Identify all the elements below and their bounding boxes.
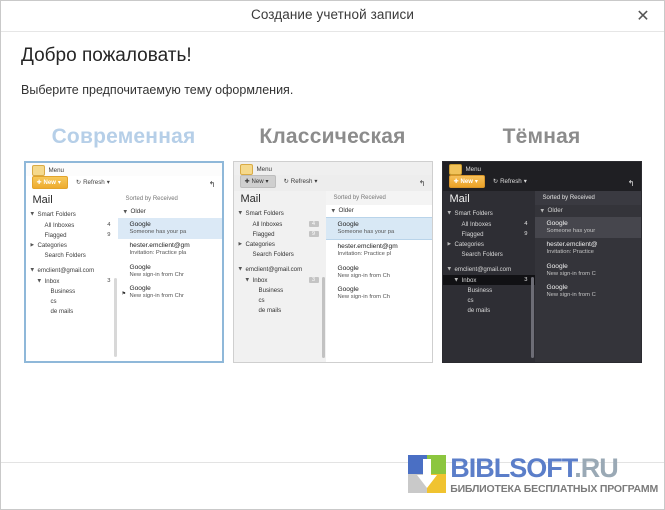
chevron-right-icon[interactable]: ▶ bbox=[239, 242, 246, 247]
preview-toolbar: ✚New▾↻Refresh▾↰ bbox=[26, 176, 222, 192]
envelope-icon bbox=[240, 164, 253, 175]
message-subject: Invitation: Practice pla bbox=[130, 250, 222, 258]
message-subject: New sign-in from Ch bbox=[338, 273, 432, 281]
message-list-item[interactable]: ⚑GoogleNew sign-in from Chr bbox=[118, 282, 222, 303]
chevron-down-icon: ▾ bbox=[314, 178, 317, 185]
message-sender: Google bbox=[130, 285, 222, 293]
folder-item[interactable]: All Inboxes4 bbox=[26, 220, 118, 230]
folder-name: Smart Folders bbox=[246, 210, 319, 217]
message-list-item[interactable]: hester.emclient@Invitation: Practice bbox=[535, 238, 641, 259]
new-button[interactable]: ✚New▾ bbox=[32, 176, 68, 189]
message-list-item[interactable]: GoogleNew sign-in from C bbox=[535, 260, 641, 281]
folder-name: All Inboxes bbox=[462, 221, 525, 228]
refresh-button-label: Refresh bbox=[291, 178, 313, 185]
close-icon[interactable]: ✕ bbox=[632, 5, 654, 27]
plus-icon: ✚ bbox=[37, 179, 42, 186]
watermark-title-tld: .RU bbox=[574, 453, 618, 483]
message-group-label: Older bbox=[548, 207, 563, 214]
folder-name: cs bbox=[259, 297, 319, 304]
folder-pane-scrollbar[interactable] bbox=[531, 277, 534, 358]
folder-name: de mails bbox=[259, 307, 319, 314]
preview-menu-bar: Menu bbox=[443, 162, 641, 175]
back-arrow-icon[interactable]: ↰ bbox=[419, 179, 426, 188]
message-subject: New sign-in from Ch bbox=[338, 294, 432, 302]
message-sender: Google bbox=[130, 264, 222, 272]
folder-unread-count: 3 bbox=[309, 277, 319, 283]
sort-order-label[interactable]: Sorted by Received bbox=[118, 192, 222, 206]
chevron-down-icon: ▾ bbox=[107, 179, 110, 186]
folder-name: Categories bbox=[38, 242, 111, 249]
folder-item[interactable]: ▼Smart Folders bbox=[234, 209, 326, 219]
folder-name: Flagged bbox=[45, 232, 108, 239]
watermark-subtitle: БИБЛИОТЕКА БЕСПЛАТНЫХ ПРОГРАММ bbox=[450, 482, 658, 497]
folder-item[interactable]: Business bbox=[26, 286, 118, 296]
folder-item[interactable]: Flagged9 bbox=[234, 229, 326, 239]
new-button-label: New bbox=[44, 180, 56, 186]
folder-item[interactable]: Search Folders bbox=[443, 250, 535, 260]
refresh-icon: ↻ bbox=[76, 179, 81, 186]
envelope-icon bbox=[449, 164, 462, 175]
chevron-down-icon[interactable]: ▼ bbox=[38, 279, 45, 284]
message-subject: Someone has your pa bbox=[130, 229, 222, 237]
folder-name: Smart Folders bbox=[455, 210, 528, 217]
message-list-item[interactable]: GoogleSomeone has your bbox=[535, 217, 641, 238]
message-list-item[interactable]: GoogleNew sign-in from Chr bbox=[118, 261, 222, 282]
folder-name: All Inboxes bbox=[45, 222, 108, 229]
message-sender: Google bbox=[547, 220, 641, 228]
folder-item[interactable]: ▶Categories bbox=[234, 239, 326, 249]
watermark-title-left: BIBLSOFT bbox=[450, 453, 574, 483]
folder-item[interactable]: cs bbox=[26, 296, 118, 306]
folder-item[interactable]: All Inboxes4 bbox=[443, 219, 535, 229]
theme-chooser: СовременнаяMenu✚New▾↻Refresh▾↰Mail▼Smart… bbox=[1, 125, 664, 363]
mail-pane-title: Mail bbox=[443, 191, 535, 209]
message-sender: Google bbox=[547, 263, 641, 271]
envelope-icon bbox=[32, 165, 45, 176]
message-sender: Google bbox=[338, 265, 432, 273]
folder-item[interactable]: ▼Smart Folders bbox=[443, 209, 535, 219]
message-list-item[interactable]: hester.emclient@gmInvitation: Practice p… bbox=[118, 239, 222, 260]
folder-item[interactable]: ▼Inbox3 bbox=[234, 275, 326, 285]
dialog-titlebar: Создание учетной записи ✕ bbox=[1, 1, 664, 32]
folder-name: de mails bbox=[468, 307, 528, 314]
preview-toolbar: ✚New▾↻Refresh▾↰ bbox=[234, 175, 432, 191]
preview-folder-pane: Mail▼Smart FoldersAll Inboxes4Flagged9▶C… bbox=[234, 191, 326, 362]
message-list-item[interactable]: GoogleNew sign-in from Ch bbox=[326, 283, 432, 304]
folder-item[interactable]: ▼Inbox3 bbox=[443, 275, 535, 285]
folder-unread-count: 9 bbox=[107, 232, 113, 238]
folder-item[interactable]: ▼Inbox3 bbox=[26, 276, 118, 286]
folder-name: All Inboxes bbox=[253, 221, 309, 228]
refresh-button[interactable]: ↻Refresh▾ bbox=[284, 178, 318, 185]
message-sender: Google bbox=[338, 221, 432, 229]
chevron-down-icon[interactable]: ▼ bbox=[31, 212, 38, 217]
theme-preview-modern[interactable]: Menu✚New▾↻Refresh▾↰Mail▼Smart FoldersAll… bbox=[24, 161, 224, 363]
folder-pane-scrollbar[interactable] bbox=[114, 278, 117, 357]
message-subject: New sign-in from Chr bbox=[130, 293, 222, 301]
preview-menu-label: Menu bbox=[257, 166, 272, 173]
folder-name: Categories bbox=[455, 241, 528, 248]
folder-name: de mails bbox=[51, 308, 111, 315]
sort-order-label[interactable]: Sorted by Received bbox=[535, 191, 641, 205]
folder-unread-count: 3 bbox=[524, 277, 530, 283]
message-group-header[interactable]: ▼Older bbox=[535, 205, 641, 217]
chevron-down-icon[interactable]: ▼ bbox=[246, 278, 253, 283]
biblsoft-watermark: BIBLSOFT.RU БИБЛИОТЕКА БЕСПЛАТНЫХ ПРОГРА… bbox=[408, 455, 658, 497]
folder-unread-count: 4 bbox=[107, 222, 113, 228]
theme-option-classic[interactable]: КлассическаяMenu✚New▾↻Refresh▾↰Mail▼Smar… bbox=[228, 125, 437, 363]
folder-unread-count: 9 bbox=[524, 231, 530, 237]
folder-item[interactable]: Search Folders bbox=[26, 251, 118, 261]
message-list-item[interactable]: GoogleNew sign-in from C bbox=[535, 281, 641, 302]
theme-instruction-text: Выберите предпочитаемую тему оформления. bbox=[21, 83, 644, 97]
plus-icon: ✚ bbox=[245, 178, 250, 185]
message-sender: Google bbox=[547, 284, 641, 292]
message-sender: hester.emclient@gm bbox=[338, 243, 432, 251]
preview-menu-bar: Menu bbox=[26, 163, 222, 176]
preview-message-list: Sorted by Received▼OlderGoogleSomeone ha… bbox=[326, 191, 432, 362]
folder-name: emclient@gmail.com bbox=[38, 267, 111, 274]
folder-name: Flagged bbox=[253, 231, 309, 238]
folder-pane-scrollbar[interactable] bbox=[322, 277, 325, 358]
preview-body: Mail▼Smart FoldersAll Inboxes4Flagged9▶C… bbox=[443, 191, 641, 362]
theme-preview-classic[interactable]: Menu✚New▾↻Refresh▾↰Mail▼Smart FoldersAll… bbox=[233, 161, 433, 363]
dialog-footer: BIBLSOFT.RU БИБЛИОТЕКА БЕСПЛАТНЫХ ПРОГРА… bbox=[1, 463, 664, 509]
folder-item[interactable]: All Inboxes4 bbox=[234, 219, 326, 229]
folder-item[interactable]: Flagged9 bbox=[26, 230, 118, 240]
folder-name: Categories bbox=[246, 241, 319, 248]
refresh-button-label: Refresh bbox=[83, 179, 105, 186]
folder-name: cs bbox=[51, 298, 111, 305]
preview-menu-label: Menu bbox=[49, 167, 64, 174]
folder-item[interactable]: de mails bbox=[443, 306, 535, 316]
theme-option-modern[interactable]: СовременнаяMenu✚New▾↻Refresh▾↰Mail▼Smart… bbox=[19, 125, 228, 363]
folder-item[interactable]: de mails bbox=[26, 307, 118, 317]
preview-message-list: Sorted by Received▼OlderGoogleSomeone ha… bbox=[535, 191, 641, 362]
chevron-down-icon[interactable]: ▼ bbox=[31, 268, 38, 273]
account-creation-dialog: Создание учетной записи ✕ Добро пожалова… bbox=[0, 0, 665, 510]
message-list-item[interactable]: GoogleNew sign-in from Ch bbox=[326, 262, 432, 283]
folder-name: Smart Folders bbox=[38, 211, 111, 218]
chevron-down-icon[interactable]: ▼ bbox=[124, 210, 131, 215]
plus-icon: ✚ bbox=[454, 178, 459, 185]
refresh-button[interactable]: ↻Refresh▾ bbox=[76, 179, 110, 186]
message-list-item[interactable]: GoogleSomeone has your pa bbox=[118, 218, 222, 239]
preview-body: Mail▼Smart FoldersAll Inboxes4Flagged9▶C… bbox=[234, 191, 432, 362]
folder-unread-count: 4 bbox=[309, 221, 319, 227]
message-subject: Invitation: Practice pl bbox=[338, 251, 432, 259]
message-group-label: Older bbox=[131, 208, 146, 215]
folder-item[interactable]: ▶Categories bbox=[443, 239, 535, 249]
folder-name: Search Folders bbox=[45, 252, 111, 259]
folder-unread-count: 9 bbox=[309, 231, 319, 237]
folder-unread-count: 4 bbox=[524, 221, 530, 227]
message-list-item[interactable]: hester.emclient@gmInvitation: Practice p… bbox=[326, 240, 432, 261]
folder-item[interactable]: ▼emclient@gmail.com bbox=[443, 265, 535, 275]
folder-item[interactable]: Flagged9 bbox=[443, 229, 535, 239]
folder-name: Business bbox=[259, 287, 319, 294]
chevron-down-icon[interactable]: ▼ bbox=[239, 267, 246, 272]
preview-body: Mail▼Smart FoldersAll Inboxes4Flagged9▶C… bbox=[26, 192, 222, 361]
folder-item[interactable]: cs bbox=[234, 295, 326, 305]
folder-name: emclient@gmail.com bbox=[455, 266, 528, 273]
folder-item[interactable]: cs bbox=[443, 295, 535, 305]
folder-name: Inbox bbox=[45, 278, 108, 285]
new-button[interactable]: ✚New▾ bbox=[449, 175, 485, 188]
folder-name: Inbox bbox=[253, 277, 309, 284]
chevron-down-icon[interactable]: ▼ bbox=[448, 267, 455, 272]
watermark-title: BIBLSOFT.RU bbox=[450, 455, 658, 482]
message-sender: hester.emclient@ bbox=[547, 241, 641, 249]
chevron-down-icon[interactable]: ▼ bbox=[332, 209, 339, 214]
preview-folder-pane: Mail▼Smart FoldersAll Inboxes4Flagged9▶C… bbox=[26, 192, 118, 361]
message-group-header[interactable]: ▼Older bbox=[326, 205, 432, 217]
message-subject: Someone has your bbox=[547, 228, 641, 236]
new-button[interactable]: ✚New▾ bbox=[240, 175, 276, 188]
chevron-down-icon: ▾ bbox=[266, 178, 269, 185]
folder-item[interactable]: ▼Smart Folders bbox=[26, 210, 118, 220]
welcome-heading: Добро пожаловать! bbox=[21, 46, 644, 67]
biblsoft-logo-icon bbox=[408, 455, 446, 493]
theme-title-modern: Современная bbox=[52, 125, 196, 149]
folder-unread-count: 3 bbox=[107, 278, 113, 284]
theme-title-dark: Тёмная bbox=[503, 125, 581, 149]
preview-folder-pane: Mail▼Smart FoldersAll Inboxes4Flagged9▶C… bbox=[443, 191, 535, 362]
back-arrow-icon[interactable]: ↰ bbox=[628, 179, 635, 188]
dialog-title: Создание учетной записи bbox=[1, 7, 664, 22]
new-button-label: New bbox=[252, 179, 264, 185]
chevron-down-icon: ▾ bbox=[475, 178, 478, 185]
message-list-item[interactable]: GoogleSomeone has your pa bbox=[326, 217, 432, 240]
theme-preview-dark[interactable]: Menu✚New▾↻Refresh▾↰Mail▼Smart FoldersAll… bbox=[442, 161, 642, 363]
preview-menu-bar: Menu bbox=[234, 162, 432, 175]
chevron-down-icon[interactable]: ▼ bbox=[239, 211, 246, 216]
message-subject: New sign-in from C bbox=[547, 271, 641, 279]
folder-item[interactable]: ▶Categories bbox=[26, 240, 118, 250]
chevron-down-icon[interactable]: ▼ bbox=[448, 211, 455, 216]
chevron-down-icon: ▾ bbox=[524, 178, 527, 185]
folder-name: cs bbox=[468, 297, 528, 304]
preview-menu-label: Menu bbox=[466, 166, 481, 173]
folder-name: Search Folders bbox=[253, 251, 319, 258]
message-sender: Google bbox=[338, 286, 432, 294]
chevron-right-icon[interactable]: ▶ bbox=[31, 243, 38, 248]
sort-order-label[interactable]: Sorted by Received bbox=[326, 191, 432, 205]
new-button-label: New bbox=[461, 179, 473, 185]
folder-item[interactable]: ▼emclient@gmail.com bbox=[234, 265, 326, 275]
intro-section: Добро пожаловать! Выберите предпочитаему… bbox=[1, 32, 664, 97]
folder-item[interactable]: Business bbox=[234, 285, 326, 295]
folder-item[interactable]: de mails bbox=[234, 306, 326, 316]
folder-item[interactable]: ▼emclient@gmail.com bbox=[26, 266, 118, 276]
chevron-down-icon: ▾ bbox=[58, 179, 61, 186]
chevron-down-icon[interactable]: ▼ bbox=[541, 209, 548, 214]
folder-name: emclient@gmail.com bbox=[246, 266, 319, 273]
preview-toolbar: ✚New▾↻Refresh▾↰ bbox=[443, 175, 641, 191]
flag-icon[interactable]: ⚑ bbox=[122, 291, 126, 297]
refresh-icon: ↻ bbox=[284, 178, 289, 185]
folder-name: Business bbox=[51, 288, 111, 295]
mail-pane-title: Mail bbox=[26, 192, 118, 210]
refresh-icon: ↻ bbox=[493, 178, 498, 185]
message-subject: New sign-in from Chr bbox=[130, 272, 222, 280]
refresh-button[interactable]: ↻Refresh▾ bbox=[493, 178, 527, 185]
message-sender: hester.emclient@gm bbox=[130, 242, 222, 250]
chevron-down-icon[interactable]: ▼ bbox=[455, 278, 462, 283]
preview-message-list: Sorted by Received▼OlderGoogleSomeone ha… bbox=[118, 192, 222, 361]
theme-option-dark[interactable]: ТёмнаяMenu✚New▾↻Refresh▾↰Mail▼Smart Fold… bbox=[437, 125, 646, 363]
chevron-right-icon[interactable]: ▶ bbox=[448, 242, 455, 247]
mail-pane-title: Mail bbox=[234, 191, 326, 209]
message-sender: Google bbox=[130, 221, 222, 229]
folder-item[interactable]: Search Folders bbox=[234, 250, 326, 260]
message-group-label: Older bbox=[339, 207, 354, 214]
folder-name: Business bbox=[468, 287, 528, 294]
message-subject: Someone has your pa bbox=[338, 229, 432, 237]
folder-name: Search Folders bbox=[462, 251, 528, 258]
back-arrow-icon[interactable]: ↰ bbox=[209, 180, 216, 189]
folder-item[interactable]: Business bbox=[443, 285, 535, 295]
message-group-header[interactable]: ▼Older bbox=[118, 206, 222, 218]
theme-title-classic: Классическая bbox=[259, 125, 405, 149]
refresh-button-label: Refresh bbox=[500, 178, 522, 185]
message-subject: Invitation: Practice bbox=[547, 249, 641, 257]
folder-name: Inbox bbox=[462, 277, 525, 284]
folder-name: Flagged bbox=[462, 231, 525, 238]
message-subject: New sign-in from C bbox=[547, 292, 641, 300]
footer-spacer bbox=[1, 363, 664, 462]
